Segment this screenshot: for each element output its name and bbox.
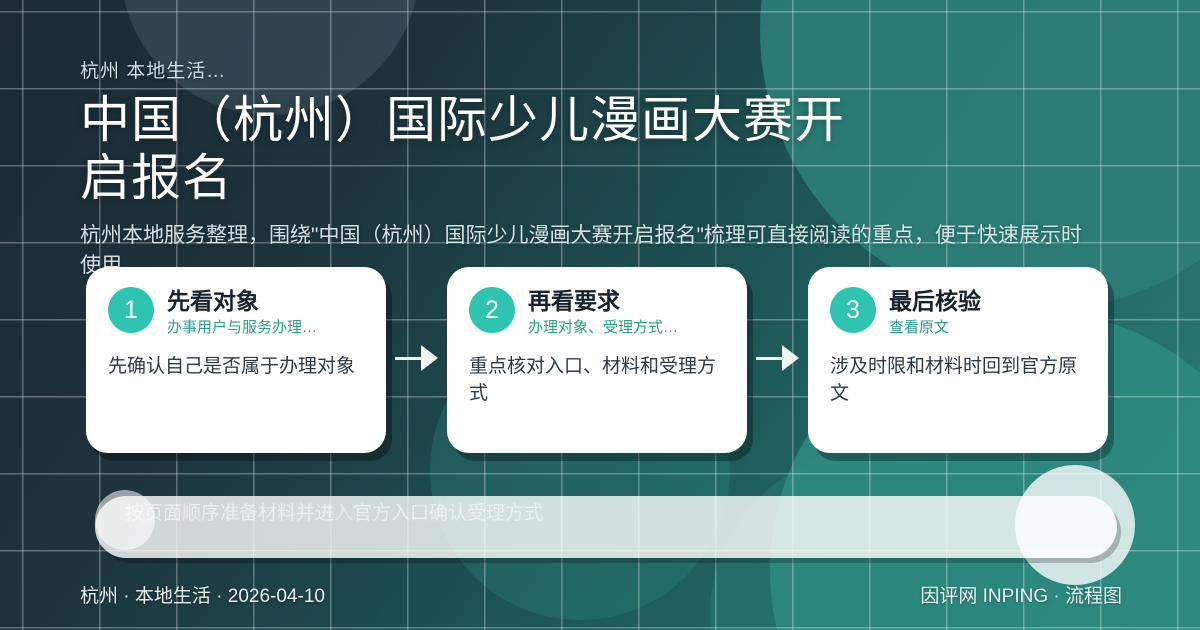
poster-canvas: 杭州 本地生活… 中国（杭州）国际少儿漫画大赛开启报名 杭州本地服务整理，围绕"… [0,0,1200,630]
step-card-header: 2 再看要求 办理对象、受理方式… [469,287,725,337]
step-subtitle: 办理对象、受理方式… [528,319,678,337]
footer-left-text: 杭州 · 本地生活 · 2026-04-10 [80,581,325,608]
step-subtitle: 办事用户与服务办理… [167,319,317,337]
poster-header: 杭州 本地生活… 中国（杭州）国际少儿漫画大赛开启报名 杭州本地服务整理，围绕"… [80,56,1130,282]
step-card-1[interactable]: 1 先看对象 办事用户与服务办理… 先确认自己是否属于办理对象 [86,267,386,453]
step-title: 再看要求 [528,288,678,314]
step-body: 先确认自己是否属于办理对象 [108,354,364,380]
footer-right-text: 因评网 INPING · 流程图 [920,581,1122,608]
summary-bar: 按页面顺序准备材料并进入官方入口确认受理方式 [95,496,1117,558]
step-number-badge: 1 [108,287,154,333]
eyebrow-label: 杭州 本地生活… [80,56,1130,83]
arrow-line-icon [395,357,421,360]
arrow-connector-1 [386,345,447,371]
step-body: 重点核对入口、材料和受理方式 [469,354,725,406]
steps-flow: 1 先看对象 办事用户与服务办理… 先确认自己是否属于办理对象 2 再看要求 办… [86,267,1108,453]
step-heading-group: 先看对象 办事用户与服务办理… [167,287,317,337]
step-number-badge: 2 [469,287,515,333]
step-title: 最后核验 [889,288,981,314]
step-heading-group: 再看要求 办理对象、受理方式… [528,287,678,337]
step-card-header: 1 先看对象 办事用户与服务办理… [108,287,364,337]
summary-text: 按页面顺序准备材料并进入官方入口确认受理方式 [125,503,543,526]
step-card-2[interactable]: 2 再看要求 办理对象、受理方式… 重点核对入口、材料和受理方式 [447,267,747,453]
step-card-header: 3 最后核验 查看原文 [830,287,1086,337]
step-number-badge: 3 [830,287,876,333]
arrow-line-icon [756,357,782,360]
arrow-connector-2 [747,345,808,371]
poster-footer: 杭州 · 本地生活 · 2026-04-10 因评网 INPING · 流程图 [80,581,1122,608]
step-heading-group: 最后核验 查看原文 [889,287,981,337]
arrow-head-icon [421,345,438,371]
step-card-3[interactable]: 3 最后核验 查看原文 涉及时限和材料时回到官方原文 [808,267,1108,453]
page-title: 中国（杭州）国际少儿漫画大赛开启报名 [80,91,870,207]
step-title: 先看对象 [167,288,317,314]
step-body: 涉及时限和材料时回到官方原文 [830,354,1086,406]
arrow-head-icon [782,345,799,371]
step-subtitle: 查看原文 [889,319,981,337]
